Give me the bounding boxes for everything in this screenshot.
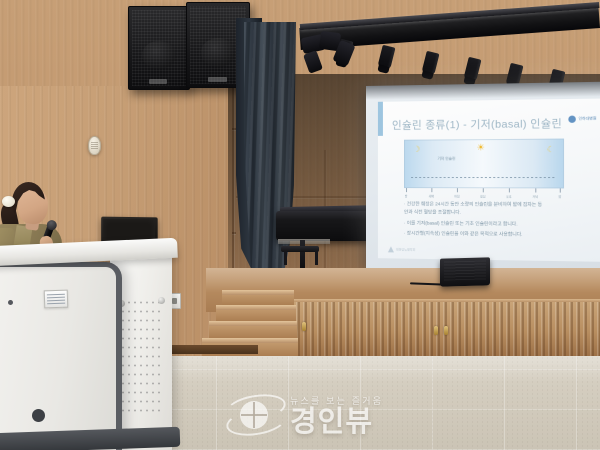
stage-step [209, 321, 297, 338]
watermark: 뉴스를 보는 즐거움 경인뷰 [226, 384, 406, 446]
x-tick-label: 밤 [558, 195, 561, 199]
stage-step [222, 290, 294, 305]
insulin-curve-chart: ☽ ☀ ☾ 기저 인슐린 [404, 139, 564, 189]
slide-bullet: · 장시간형(지속성) 인슐린을 이와 같은 목적으로 사용합니다. [404, 229, 523, 238]
slide-title: 인슐린 종류(1) - 기저(basal) 인슐린 [392, 116, 566, 133]
chart-x-axis: 밤 새벽 아침 점심 오후 저녁 밤 [404, 187, 562, 196]
hair-accessory-icon [2, 196, 15, 207]
org-logo-text: 인하대병원 [579, 116, 597, 121]
slide-footer-logo: 대한당뇨병학회 [388, 246, 416, 252]
watermark-brand: 경인뷰 [290, 408, 383, 437]
footer-mark-icon [388, 246, 394, 252]
podium-fastener [158, 297, 165, 304]
stage-panel-handle [302, 322, 306, 331]
x-tick-label: 아침 [454, 194, 459, 198]
podium-button[interactable] [8, 300, 13, 305]
x-tick-label: 오후 [506, 194, 511, 198]
slide-bullet: · 이를 기저(basal) 인슐린 또는 기초 인슐린이라고 합니다. [404, 219, 518, 227]
stage-panel-handle [434, 326, 438, 335]
watermark-tagline: 뉴스를 보는 즐거움 [290, 394, 383, 407]
slide-bullet: · 건강한 췌장은 24시간 동안 소량의 인슐린을 분비하여 밤에 잠자는 동 [404, 200, 542, 208]
x-tick-label: 저녁 [533, 195, 538, 199]
floor-wedge-speaker [440, 257, 490, 286]
slide-bullet: 안과 식전 혈당을 조절합니다. [404, 208, 461, 216]
x-tick-label: 새벽 [429, 194, 434, 198]
truss-light-cluster [300, 30, 390, 82]
podium-perforation [120, 298, 164, 416]
slide-org-logo: 인하대병원 [569, 115, 597, 123]
wall-speaker-left [128, 6, 190, 90]
moon-icon: ☽ [413, 146, 420, 154]
org-logo-mark-icon [569, 116, 577, 123]
stage-panel-handle [444, 326, 448, 335]
projection-screen: 인슐린 종류(1) - 기저(basal) 인슐린 인하대병원 ☽ ☀ ☾ 기저… [366, 82, 600, 273]
footer-text: 대한당뇨병학회 [396, 247, 415, 251]
wall-sconce-icon [88, 136, 101, 155]
photo-scene: 인슐린 종류(1) - 기저(basal) 인슐린 인하대병원 ☽ ☀ ☾ 기저… [0, 0, 600, 450]
slide-accent-bar [378, 102, 383, 136]
stage-step [216, 305, 296, 321]
chart-annotation: 기저 인슐린 [437, 157, 455, 162]
eye-logo-icon [226, 393, 282, 437]
moon-icon: ☾ [547, 146, 555, 154]
screen-top-shadow [366, 82, 600, 100]
sun-icon: ☀ [477, 143, 485, 152]
x-tick-label: 밤 [405, 194, 408, 198]
chart-basal-curve [411, 177, 556, 178]
x-tick-label: 점심 [480, 194, 485, 198]
podium-label-sticker [44, 290, 69, 309]
podium-corner-cap [32, 409, 45, 422]
presentation-slide: 인슐린 종류(1) - 기저(basal) 인슐린 인하대병원 ☽ ☀ ☾ 기저… [378, 98, 600, 261]
